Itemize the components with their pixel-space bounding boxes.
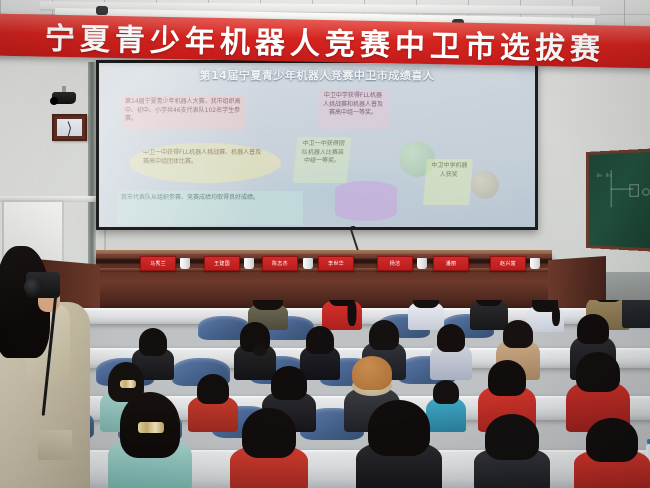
camera-lens-icon <box>24 278 42 296</box>
hair <box>253 300 283 310</box>
hair <box>503 320 533 348</box>
name-placard-1: 马秀兰 <box>140 256 176 271</box>
camera-lens-icon <box>50 97 58 105</box>
audience-area <box>0 300 650 488</box>
hair <box>488 360 526 396</box>
photographer <box>0 246 92 488</box>
chalk-box <box>629 184 639 197</box>
clock-face <box>57 119 82 136</box>
slide-sphere-tan <box>471 171 499 199</box>
hair <box>485 414 539 460</box>
hair <box>413 300 439 308</box>
hair <box>369 320 399 350</box>
projection-screen: 第14届宁夏青少年机器人竞赛中卫市成绩喜人 第14届宁夏青少年机器人大赛，我市组… <box>96 60 538 230</box>
hair <box>577 314 609 344</box>
clock-hour-hand <box>67 121 70 128</box>
audience-person-e1 <box>108 398 192 488</box>
name-placard-2: 王建国 <box>204 256 240 271</box>
hair-clip-icon <box>120 380 136 388</box>
projected-slide: 第14届宁夏青少年机器人竞赛中卫市成绩喜人 第14届宁夏青少年机器人大赛，我市组… <box>99 63 535 227</box>
hair <box>433 380 459 404</box>
audience-person-e2 <box>230 412 308 488</box>
water-cup-7 <box>530 258 540 269</box>
clock-minute-hand <box>67 127 71 137</box>
hair <box>197 374 229 404</box>
microphone-icon <box>350 226 356 230</box>
chalk-circle <box>642 188 650 196</box>
chalkboard: a₀ a₁ <box>586 149 650 252</box>
conference-photo: 第14届宁夏青少年机器人竞赛中卫市成绩喜人 第14届宁夏青少年机器人大赛，我市组… <box>0 0 650 488</box>
hair <box>242 408 296 458</box>
ponytail <box>552 306 560 326</box>
water-cup-5 <box>417 258 427 269</box>
name-placard-3: 陈志杰 <box>262 256 298 271</box>
hair-clip-icon <box>138 422 164 433</box>
screen-roller-knob-left <box>96 6 108 15</box>
water-cup-3 <box>303 258 313 269</box>
hair <box>437 324 465 352</box>
photographer-pocket <box>38 430 72 460</box>
desk-row-1 <box>0 450 650 488</box>
hair <box>306 326 334 354</box>
chalkboard-surface: a₀ a₁ <box>589 152 650 249</box>
hair <box>271 366 307 400</box>
hair <box>586 418 638 462</box>
screen-glare <box>99 63 373 227</box>
hair <box>139 328 167 356</box>
audience-person-e3 <box>356 404 442 488</box>
water-cup-2 <box>244 258 254 269</box>
slide-textbox-right-green: 中卫中学机器人获奖 <box>423 159 473 205</box>
bun <box>253 344 267 356</box>
audience-person-c6 <box>430 320 472 380</box>
name-placard-4: 李世华 <box>318 256 354 271</box>
audience-person-b7 <box>622 300 650 328</box>
wall-clock <box>52 114 87 141</box>
hair <box>368 400 430 456</box>
audience-person-e4 <box>474 418 550 488</box>
name-placard-7: 赵兴富 <box>490 256 526 271</box>
beanie-hat <box>352 356 392 390</box>
name-placard-6: 潘丽 <box>433 256 469 271</box>
ponytail <box>348 300 357 326</box>
coat <box>622 300 650 328</box>
chalkboard-writing: a₀ a₁ <box>597 172 612 179</box>
hair <box>576 352 620 392</box>
water-cup-1 <box>180 258 190 269</box>
audience-person-e5 <box>574 422 650 488</box>
name-placard-5: 杨洁 <box>377 256 413 271</box>
